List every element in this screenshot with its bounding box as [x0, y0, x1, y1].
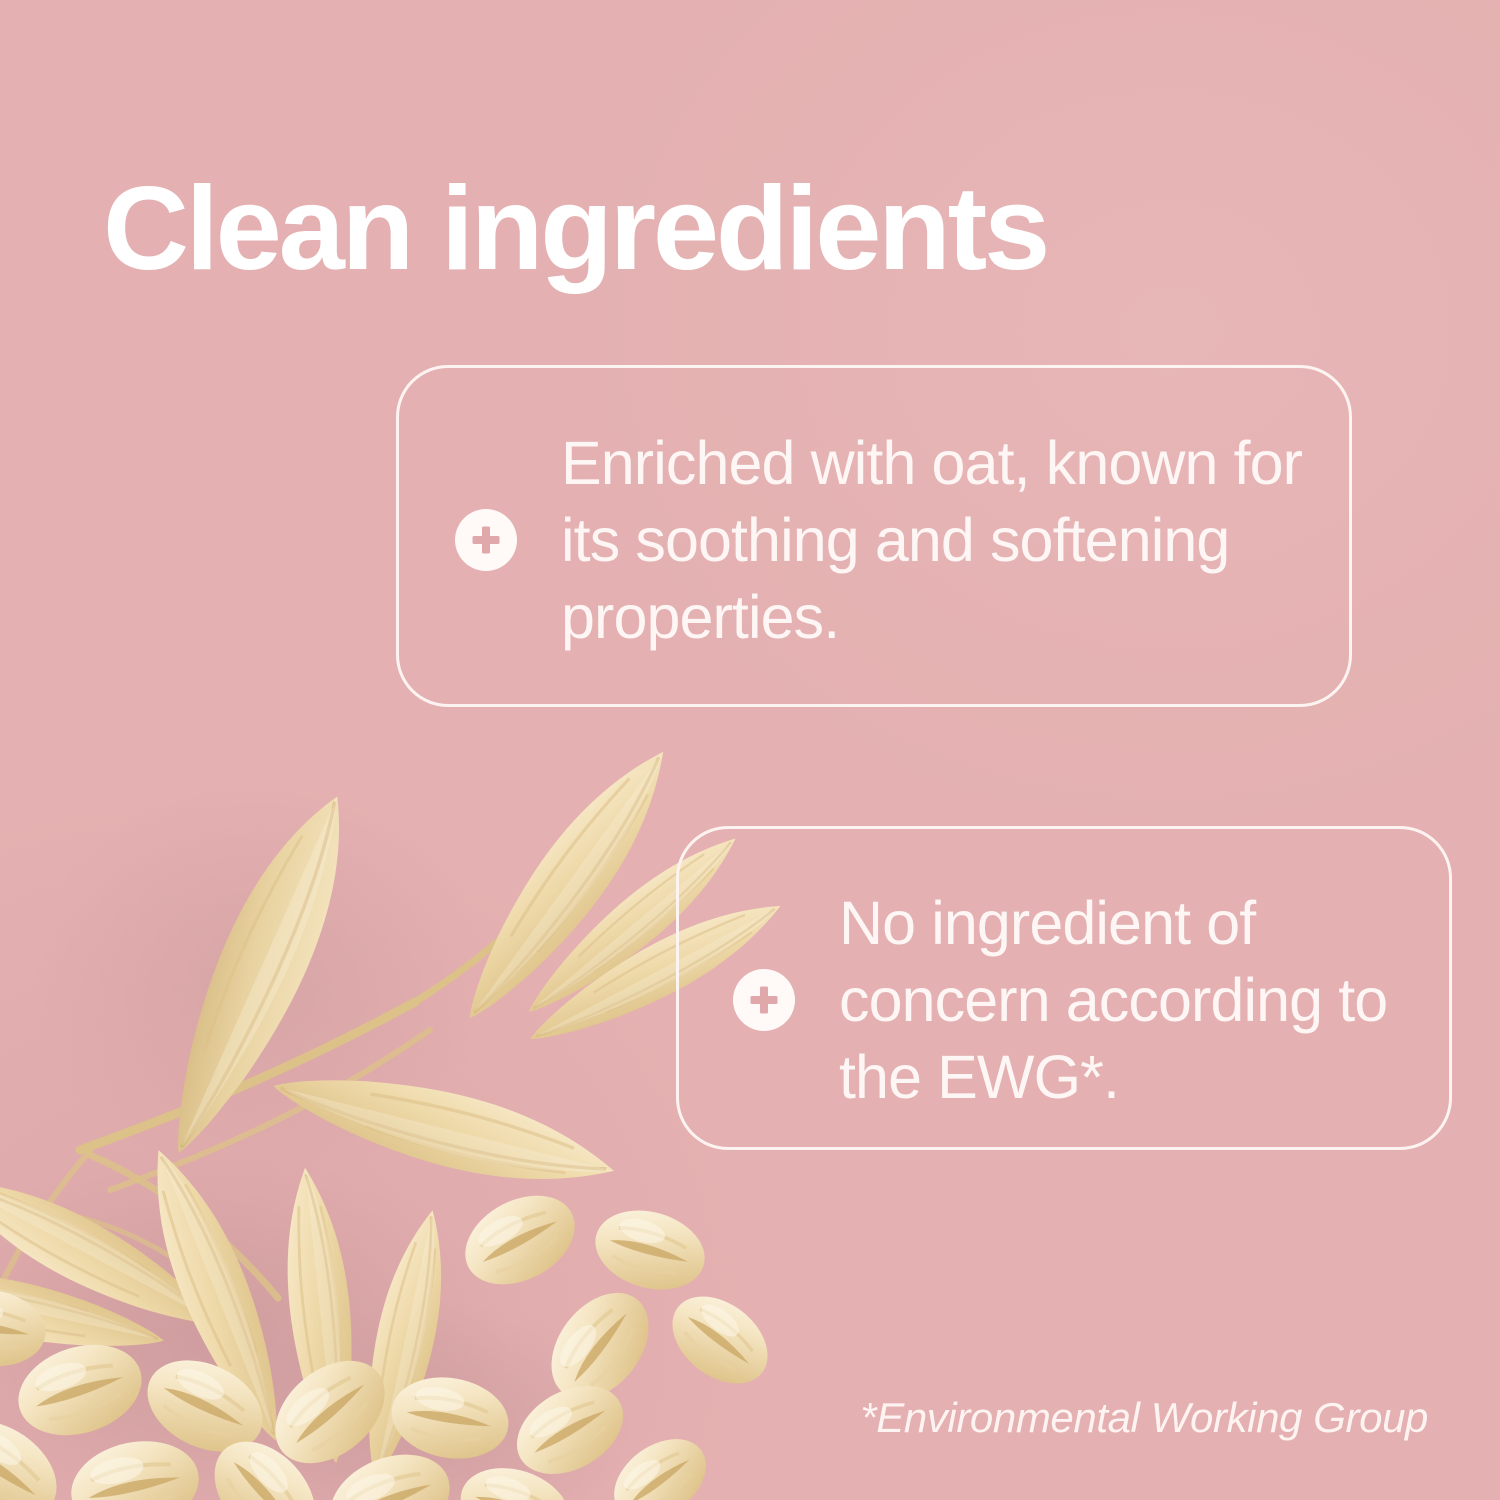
- feature-card-content: No ingredient of concern according to th…: [733, 885, 1423, 1116]
- plus-icon: [733, 969, 795, 1031]
- feature-card-content: Enriched with oat, known for its soothin…: [455, 425, 1315, 656]
- feature-text: Enriched with oat, known for its soothin…: [561, 425, 1315, 656]
- page-title: Clean ingredients: [103, 162, 1047, 295]
- footnote: *Environmental Working Group: [860, 1394, 1428, 1442]
- plus-icon: [455, 509, 517, 571]
- feature-text: No ingredient of concern according to th…: [839, 885, 1423, 1116]
- product-feature-graphic: Clean ingredients Enriched with oat, kno…: [0, 0, 1500, 1500]
